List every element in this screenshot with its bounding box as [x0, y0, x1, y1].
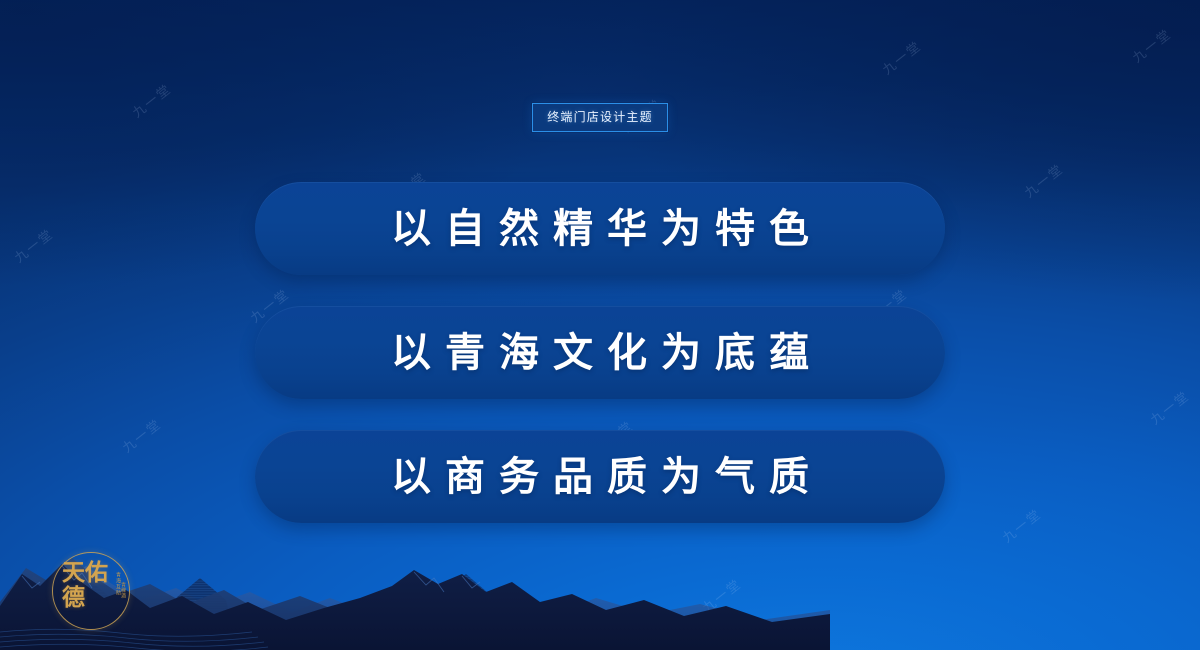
brand-logo: 天佑德 青海互助 青稞酒: [52, 552, 130, 630]
statement-pill-list: 以自然精华为特色 以青海文化为底蕴 以商务品质为气质: [255, 182, 945, 523]
presentation-slide: 九一堂 九一堂 九一堂 九一堂 九一堂 九一堂 九一堂 九一堂 九一堂 九一堂 …: [0, 0, 1200, 650]
logo-name: 天佑德: [62, 560, 108, 610]
statement-pill-text: 以自然精华为特色: [377, 209, 823, 249]
slide-title-area: 终端门店设计主题: [0, 103, 1200, 132]
statement-pill-text: 以青海文化为底蕴: [377, 333, 823, 373]
statement-pill: 以自然精华为特色: [255, 182, 945, 275]
statement-pill-text: 以商务品质为气质: [377, 457, 823, 497]
logo-subtext-far-right: 青稞酒: [120, 582, 126, 599]
title-badge: 终端门店设计主题: [532, 103, 668, 132]
title-badge-label: 终端门店设计主题: [547, 110, 653, 124]
statement-pill: 以青海文化为底蕴: [255, 306, 945, 399]
statement-pill: 以商务品质为气质: [255, 430, 945, 523]
